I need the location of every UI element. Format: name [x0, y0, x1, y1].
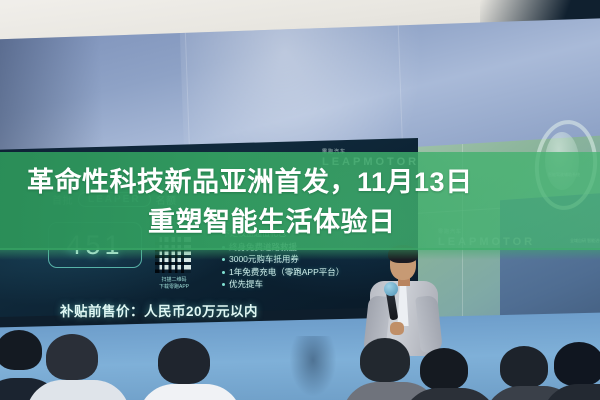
presenter-hand: [390, 322, 404, 335]
qr-caption: 扫描二维码 下载零跑APP: [150, 277, 198, 291]
list-item: 优先提车: [222, 278, 344, 291]
headline-line-1: 革命性科技新品亚洲首发，11月13日: [27, 160, 473, 199]
microphone-head-icon: [384, 282, 398, 296]
stage-shadow: [290, 336, 336, 396]
qr-caption-line-2: 下载零跑APP: [150, 284, 198, 291]
list-item: 1年免费充电（零跑APP平台）: [222, 266, 344, 279]
headline-line-2: 重塑智能生活体验日: [148, 200, 396, 239]
screenshot-canvas: 首批 LEAPER 名额 451 扫描二维码 下载零跑APP 下定权益超值礼包 …: [0, 0, 600, 400]
price-line: 补贴前售价：人民币20万元以内: [60, 300, 258, 320]
qr-caption-line-1: 扫描二维码: [150, 277, 198, 284]
